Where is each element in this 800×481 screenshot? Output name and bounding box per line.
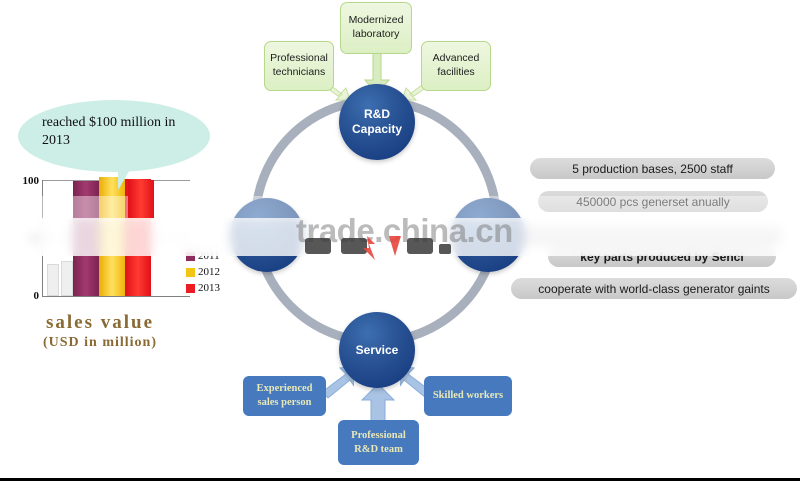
highlight-pill-2 — [521, 225, 783, 246]
rd-box-label-0: Professional technicians — [269, 52, 329, 79]
legend-label-2011: 2011 — [198, 250, 220, 262]
legend-item-2011: 2011 — [186, 248, 220, 264]
ghost-bar-1 — [47, 264, 59, 296]
service-box-professional-rd-team[interactable]: Professional R&D team — [338, 420, 419, 465]
service-box-label-1: Professional R&D team — [342, 429, 415, 456]
service-box-skilled-workers[interactable]: Skilled workers — [424, 376, 512, 416]
sales-bar-chart: 100 50 0 — [8, 172, 198, 307]
bar-2011 — [73, 181, 99, 296]
chart-callout-text: reached $100 million in 2013 — [42, 114, 198, 149]
ytick-50: 50 — [28, 233, 39, 245]
node-rd-capacity[interactable]: R&D Capacity — [339, 84, 415, 160]
legend-swatch-2012 — [186, 268, 195, 277]
node-left[interactable] — [230, 198, 304, 272]
node-right[interactable] — [451, 198, 525, 272]
rd-box-label-1: Modernized laboratory — [345, 14, 407, 41]
node-service[interactable]: Service — [339, 312, 415, 388]
ghost-bar-2 — [61, 261, 73, 296]
highlight-label-4: cooperate with world-class generator gai… — [538, 282, 769, 296]
node-rd-capacity-label: R&D Capacity — [339, 107, 415, 137]
legend-label-2013: 2013 — [198, 282, 220, 294]
rd-box-advanced-facilities[interactable]: Advanced facilities — [421, 41, 491, 91]
bar-fill-2011 — [73, 181, 99, 296]
chart-plot-area: 100 50 0 — [42, 180, 190, 297]
chart-caption-main: sales value — [10, 312, 190, 334]
service-box-label-0: Experienced sales person — [247, 382, 322, 409]
highlight-pill-0: 5 production bases, 2500 staff — [530, 158, 775, 179]
rd-box-professional-technicians[interactable]: Professional technicians — [264, 41, 334, 91]
rd-box-modernized-laboratory[interactable]: Modernized laboratory — [340, 2, 412, 54]
chart-callout-bubble: reached $100 million in 2013 — [18, 100, 210, 172]
highlight-pill-4: cooperate with world-class generator gai… — [511, 278, 797, 299]
service-box-experienced-sales-person[interactable]: Experienced sales person — [243, 376, 326, 416]
legend-label-2012: 2012 — [198, 266, 220, 278]
legend-swatch-2013 — [186, 284, 195, 293]
highlight-label-0: 5 production bases, 2500 staff — [572, 162, 733, 176]
legend-swatch-2011 — [186, 252, 195, 261]
chart-caption: sales value (USD in million) — [10, 312, 190, 351]
legend-item-2013: 2013 — [186, 280, 220, 296]
bar-peak-2013 — [128, 180, 154, 218]
chart-caption-sub: (USD in million) — [10, 335, 190, 351]
bar-2012 — [99, 177, 125, 296]
highlight-label-3: key parts produced by Senci — [580, 250, 743, 264]
legend-item-2012: 2012 — [186, 264, 220, 280]
highlight-label-1: 450000 pcs generset anually — [576, 195, 729, 209]
ytick-100: 100 — [23, 175, 40, 187]
service-box-label-2: Skilled workers — [433, 389, 503, 403]
infographic-canvas: reached $100 million in 2013 100 50 0 — [0, 0, 800, 481]
node-service-label: Service — [356, 343, 399, 358]
bar-fill-2012 — [99, 177, 125, 296]
ytick-0: 0 — [34, 290, 40, 302]
chart-legend: 2011 2012 2013 — [186, 248, 220, 296]
highlight-pill-3: key parts produced by Senci — [548, 246, 776, 267]
highlight-pill-1: 450000 pcs generset anually — [538, 191, 768, 212]
rd-box-label-2: Advanced facilities — [426, 52, 486, 79]
